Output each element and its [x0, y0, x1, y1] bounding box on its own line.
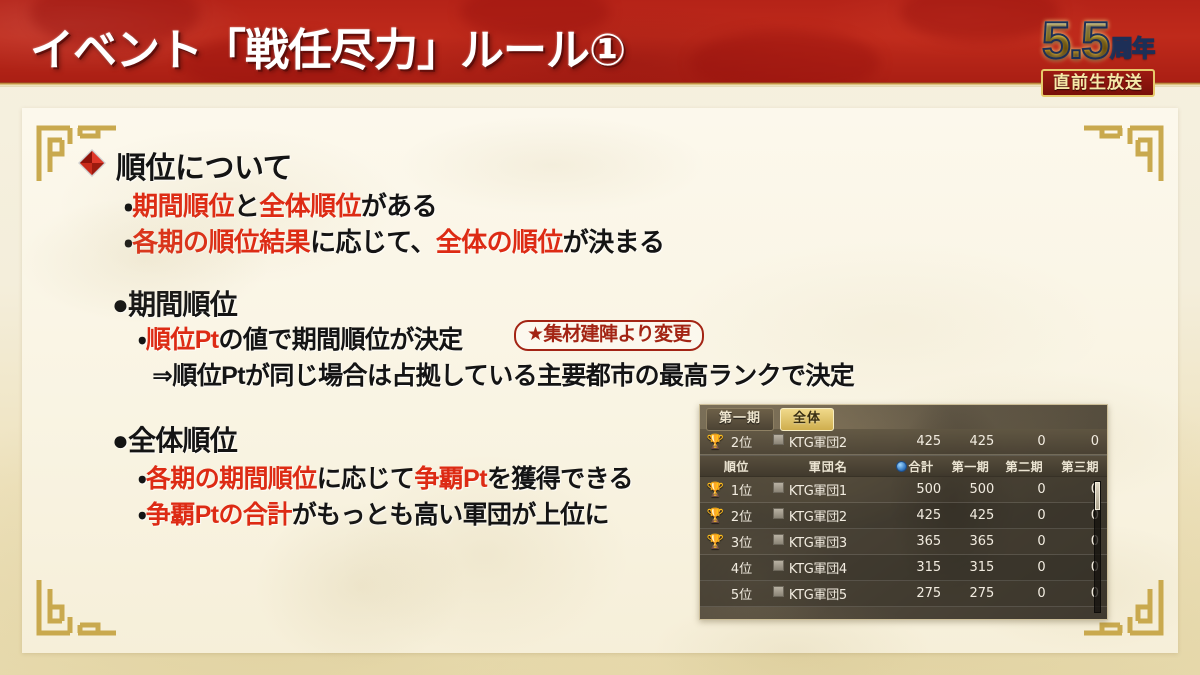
- pinned-p2: 0: [1000, 434, 1053, 449]
- legion-emblem-icon: [769, 482, 789, 497]
- table-row[interactable]: 🏆3位KTG軍団336536500: [700, 529, 1107, 555]
- column-header-phase-2: 第二期: [995, 458, 1051, 475]
- slide-root: イベント「戦任尽力」ルール① 5.5 周年 直前生放送: [0, 0, 1200, 675]
- row-phase-2: 0: [1000, 534, 1053, 549]
- ranking-table: 🏆 2位 KTG軍団2 425 425 0 0 順位 軍団名 合計 第一期 第二…: [700, 429, 1107, 607]
- text-run: を獲得できる: [487, 465, 633, 493]
- column-header-phase-1: 第一期: [940, 458, 996, 475]
- scrollbar-thumb[interactable]: [1095, 482, 1100, 510]
- pinned-p3: 0: [1054, 434, 1107, 449]
- trophy-icon: 🏆: [700, 435, 731, 449]
- section-2-line-1: ・順位Ptの値で期間順位が決定: [138, 320, 463, 356]
- text-run: 争覇Ptの合計: [146, 501, 292, 529]
- change-notice-badge: ★集材建陣より変更: [514, 320, 704, 351]
- row-phase-1: 275: [947, 586, 1000, 601]
- row-total: 425: [894, 508, 947, 523]
- column-header-phase-3: 第三期: [1051, 458, 1107, 475]
- row-phase-1: 365: [947, 534, 1000, 549]
- trophy-icon: 🏆: [700, 483, 731, 497]
- row-phase-2: 0: [1000, 586, 1053, 601]
- row-rank: 2位: [731, 506, 769, 525]
- row-phase-1: 425: [947, 508, 1000, 523]
- section-1-bullet-1: ・期間順位と全体順位がある: [124, 186, 437, 223]
- text-run: がある: [361, 191, 437, 221]
- row-phase-1: 315: [947, 560, 1000, 575]
- legion-emblem-icon: [769, 534, 789, 549]
- column-header-total-label: 合計: [909, 460, 934, 474]
- row-total: 315: [894, 560, 947, 575]
- pinned-row[interactable]: 🏆 2位 KTG軍団2 425 425 0 0: [700, 429, 1107, 455]
- column-header-name: 軍団名: [773, 458, 884, 475]
- trophy-icon: 🏆: [700, 509, 731, 523]
- text-run: 各期の順位結果: [132, 227, 310, 257]
- legion-emblem-icon: [769, 508, 789, 523]
- table-scrollbar[interactable]: [1094, 481, 1101, 613]
- pinned-rank: 2位: [731, 432, 769, 451]
- row-rank: 3位: [731, 532, 769, 551]
- legion-emblem-icon: [769, 586, 789, 601]
- text-run: が決まる: [563, 227, 665, 257]
- text-run: に応じて: [317, 465, 415, 493]
- text-run: に応じて、: [310, 227, 436, 257]
- bullet-marker: ・: [138, 501, 146, 529]
- legion-emblem-icon: [769, 560, 789, 575]
- ranking-screenshot: 第一期 全体 🏆 2位 KTG軍団2 425 425 0 0 順位 軍団名 合計…: [699, 404, 1108, 620]
- row-rank: 5位: [731, 584, 769, 603]
- section-3-bullet-1: ・各期の期間順位に応じて争覇Ptを獲得できる: [138, 459, 633, 495]
- row-legion-name: KTG軍団2: [789, 506, 894, 525]
- row-phase-2: 0: [1000, 482, 1053, 497]
- section-2-line-2: ⇒順位Ptが同じ場合は占拠している主要都市の最高ランクで決定: [152, 356, 854, 392]
- column-header-rank: 順位: [700, 458, 773, 475]
- table-row[interactable]: 4位KTG軍団431531500: [700, 555, 1107, 581]
- text-run: の値で期間順位が決定: [219, 326, 463, 354]
- section-1-heading: 順位について: [116, 143, 292, 187]
- row-legion-name: KTG軍団5: [789, 584, 894, 603]
- table-row[interactable]: 5位KTG軍団527527500: [700, 581, 1107, 607]
- text-run: と: [234, 191, 259, 221]
- column-header-total: 合計: [884, 458, 940, 475]
- bullet-marker: ・: [138, 326, 146, 354]
- trophy-icon: 🏆: [700, 535, 731, 549]
- row-legion-name: KTG軍団1: [789, 480, 894, 499]
- bullet-marker: ・: [124, 227, 132, 257]
- tab-overall[interactable]: 全体: [780, 408, 834, 431]
- section-3-bullet-2: ・争覇Ptの合計がもっとも高い軍団が上位に: [138, 495, 609, 531]
- tab-phase-1[interactable]: 第一期: [706, 408, 774, 431]
- table-row[interactable]: 🏆2位KTG軍団242542500: [700, 503, 1107, 529]
- text-run: 争覇Pt: [414, 465, 487, 493]
- ranking-tabs[interactable]: 第一期 全体: [706, 408, 834, 431]
- bullet-marker: ・: [138, 465, 146, 493]
- row-phase-2: 0: [1000, 560, 1053, 575]
- section-3-heading: ●全体順位: [112, 419, 237, 459]
- row-rank: 4位: [731, 558, 769, 577]
- pinned-p1: 425: [947, 434, 1000, 449]
- globe-icon: [896, 461, 907, 472]
- row-total: 275: [894, 586, 947, 601]
- text-run: 全体の順位: [436, 227, 563, 257]
- row-legion-name: KTG軍団4: [789, 558, 894, 577]
- bullet-marker: ・: [124, 191, 132, 221]
- text-run: 各期の期間順位: [146, 465, 317, 493]
- text-run: 順位Pt: [146, 326, 219, 354]
- section-2-heading: ●期間順位: [112, 283, 237, 323]
- table-row[interactable]: 🏆1位KTG軍団150050000: [700, 477, 1107, 503]
- row-phase-1: 500: [947, 482, 1000, 497]
- row-phase-2: 0: [1000, 508, 1053, 523]
- red-diamond-bullet-icon: [77, 148, 107, 178]
- text-run: 期間順位: [132, 191, 234, 221]
- row-total: 365: [894, 534, 947, 549]
- text-run: 全体順位: [259, 191, 361, 221]
- section-1-bullet-2: ・各期の順位結果に応じて、全体の順位が決まる: [124, 222, 664, 259]
- row-total: 500: [894, 482, 947, 497]
- table-column-headers: 順位 軍団名 合計 第一期 第二期 第三期: [700, 455, 1107, 477]
- pinned-total: 425: [894, 434, 947, 449]
- text-run: がもっとも高い軍団が上位に: [292, 501, 609, 529]
- table-body: 🏆1位KTG軍団150050000🏆2位KTG軍団242542500🏆3位KTG…: [700, 477, 1107, 607]
- row-rank: 1位: [731, 480, 769, 499]
- row-legion-name: KTG軍団3: [789, 532, 894, 551]
- pinned-name: KTG軍団2: [789, 432, 894, 451]
- legion-emblem-icon: [769, 434, 789, 449]
